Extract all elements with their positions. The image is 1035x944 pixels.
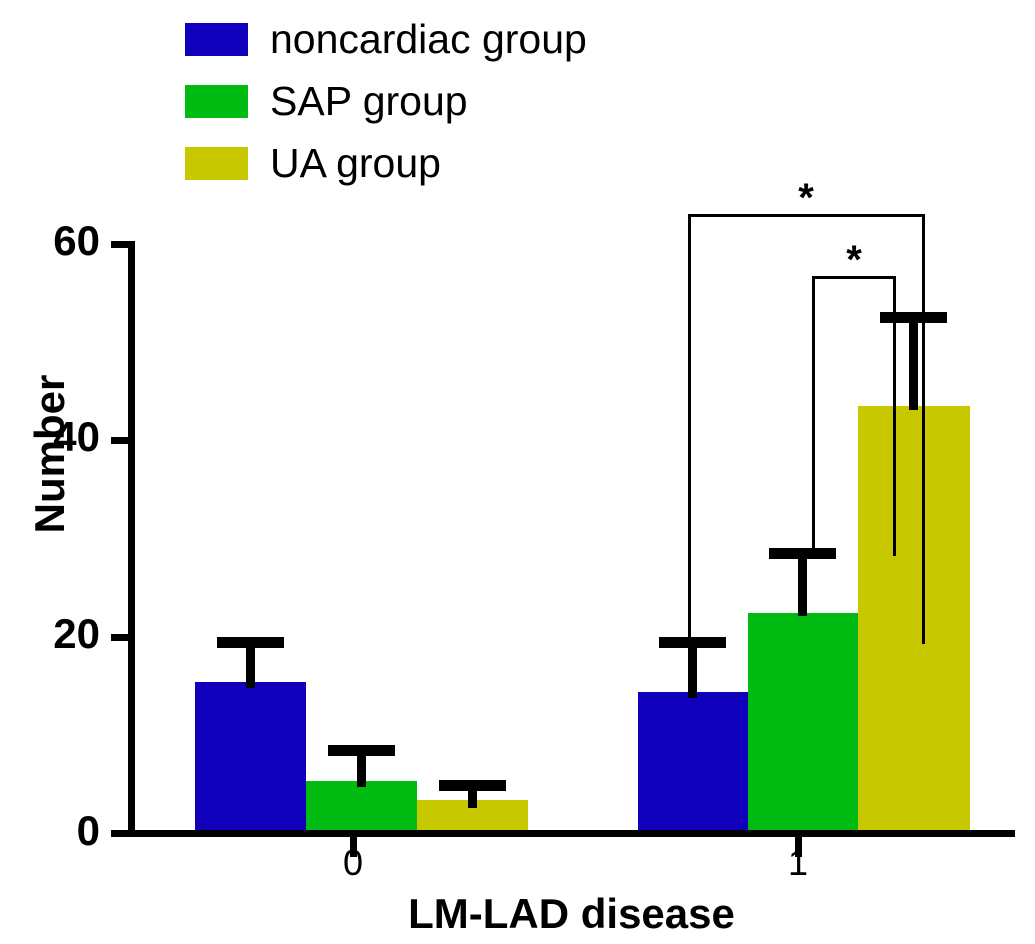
y-tick-20 xyxy=(111,634,128,641)
y-tick-60 xyxy=(111,241,128,248)
y-tick-40 xyxy=(111,437,128,444)
y-tick-0 xyxy=(111,830,128,837)
error-bar-cap-sap-group0 xyxy=(328,745,395,756)
error-bar-stem-noncardiac-group0 xyxy=(246,643,255,688)
error-bar-stem-sap-group0 xyxy=(357,751,366,787)
error-bar-cap-noncardiac-group0 xyxy=(217,637,284,648)
x-axis-title: LM-LAD disease xyxy=(128,890,1015,938)
bar-noncardiac-group1 xyxy=(638,692,748,830)
y-tick-label-20: 20 xyxy=(0,613,100,655)
y-axis-title: Number xyxy=(26,329,74,579)
significance-star-inner: * xyxy=(834,240,874,280)
x-tick-label-0: 0 xyxy=(323,845,383,881)
error-bar-cap-ua-group0 xyxy=(439,780,506,791)
y-tick-label-0: 0 xyxy=(0,810,100,852)
chart-figure: noncardiac group SAP group UA group 0 20… xyxy=(0,0,1035,944)
y-axis-line xyxy=(128,241,135,837)
bar-noncardiac-group0 xyxy=(195,682,306,830)
bar-sap-group0 xyxy=(306,781,417,830)
x-tick-label-1: 1 xyxy=(768,845,828,881)
error-bar-stem-noncardiac-group1 xyxy=(688,643,697,698)
significance-star-outer: * xyxy=(786,178,826,218)
x-axis-line xyxy=(128,830,1015,837)
significance-bracket-inner xyxy=(812,276,896,556)
bar-sap-group1 xyxy=(748,613,858,830)
plot-area: 0 20 40 60 Number xyxy=(0,0,1035,944)
y-tick-label-60: 60 xyxy=(0,220,100,262)
